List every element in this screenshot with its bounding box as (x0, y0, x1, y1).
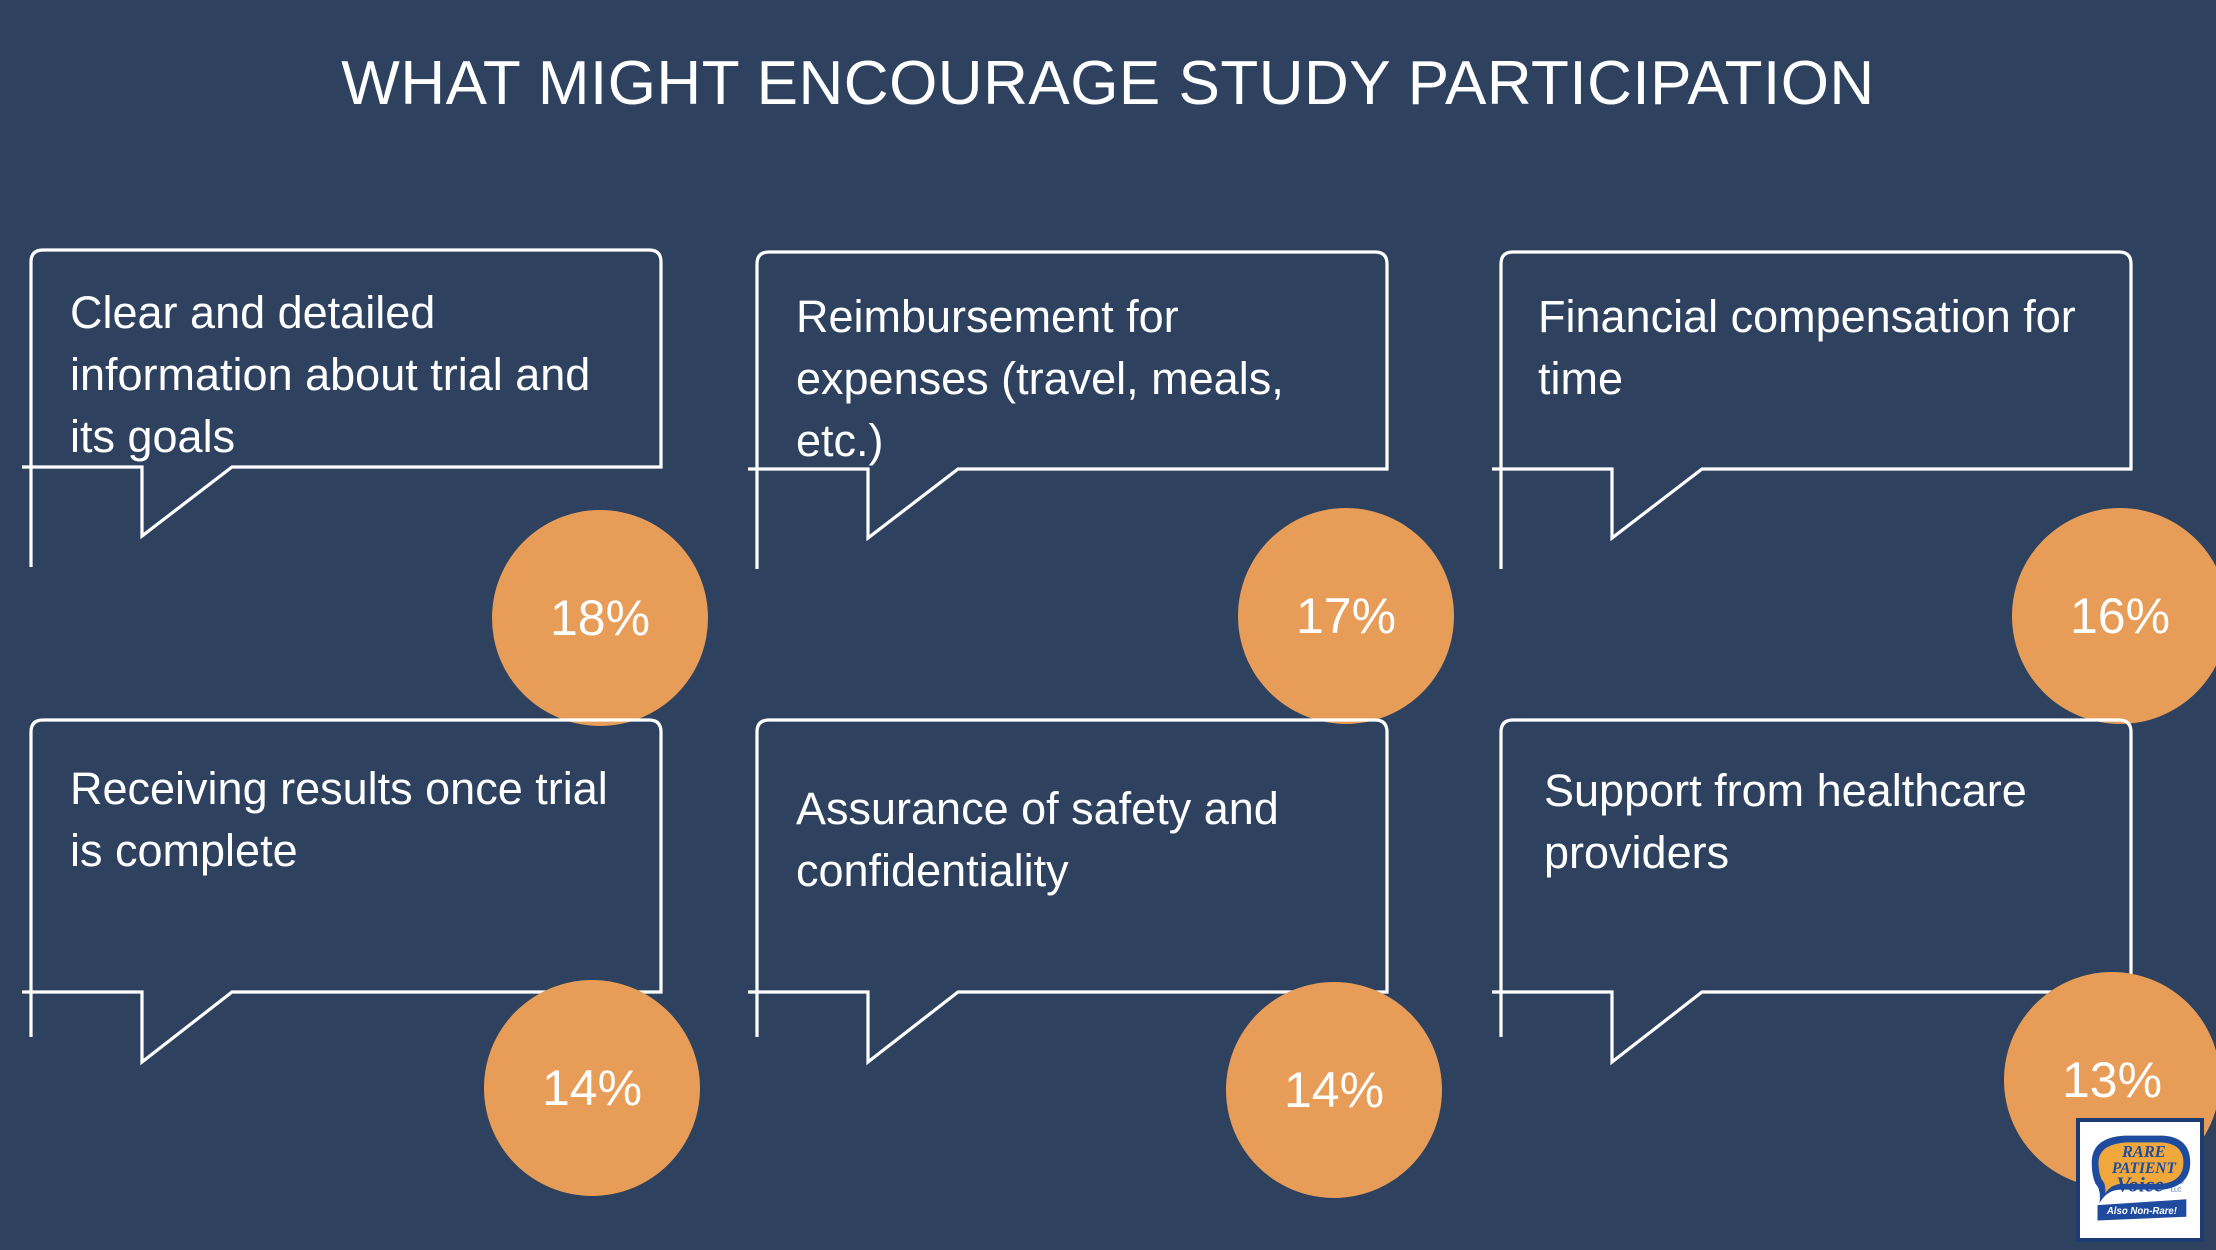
percent-badge: 17% (1238, 508, 1454, 724)
rare-patient-voice-logo: RARE PATIENT Voice LLC ® Also Non-Rare! (2076, 1118, 2204, 1242)
logo-line-rare: RARE (2121, 1142, 2166, 1161)
slide-canvas: WHAT MIGHT ENCOURAGE STUDY PARTICIPATION… (0, 0, 2216, 1250)
callout-label: Assurance of safety and confidentiality (796, 778, 1356, 902)
logo-banner-text: Also Non-Rare! (2106, 1206, 2178, 1217)
callout-card-3: Financial compensation for time 16% (1492, 250, 2132, 570)
callout-label: Support from healthcare providers (1544, 760, 2124, 884)
callout-card-1: Clear and detailed information about tri… (22, 248, 662, 568)
logo-suffix-llc: LLC (2171, 1188, 2182, 1194)
page-title: WHAT MIGHT ENCOURAGE STUDY PARTICIPATION (0, 48, 2216, 119)
percent-badge: 14% (484, 980, 700, 1196)
logo-line-voice: Voice (2116, 1173, 2163, 1197)
callout-card-5: Assurance of safety and confidentiality … (748, 718, 1388, 1038)
callout-label: Receiving results once trial is complete (70, 758, 630, 882)
callout-card-2: Reimbursement for expenses (travel, meal… (748, 250, 1388, 570)
callout-card-4: Receiving results once trial is complete… (22, 718, 662, 1038)
callout-label: Clear and detailed information about tri… (70, 282, 630, 468)
percent-badge: 16% (2012, 508, 2216, 724)
percent-badge: 14% (1226, 982, 1442, 1198)
callout-label: Financial compensation for time (1538, 286, 2123, 410)
logo-artwork: RARE PATIENT Voice LLC ® Also Non-Rare! (2082, 1124, 2198, 1236)
callout-label: Reimbursement for expenses (travel, meal… (796, 286, 1356, 472)
logo-registered-mark: ® (2179, 1178, 2184, 1186)
percent-badge: 18% (492, 510, 708, 726)
callout-card-6: Support from healthcare providers 13% (1492, 718, 2132, 1038)
